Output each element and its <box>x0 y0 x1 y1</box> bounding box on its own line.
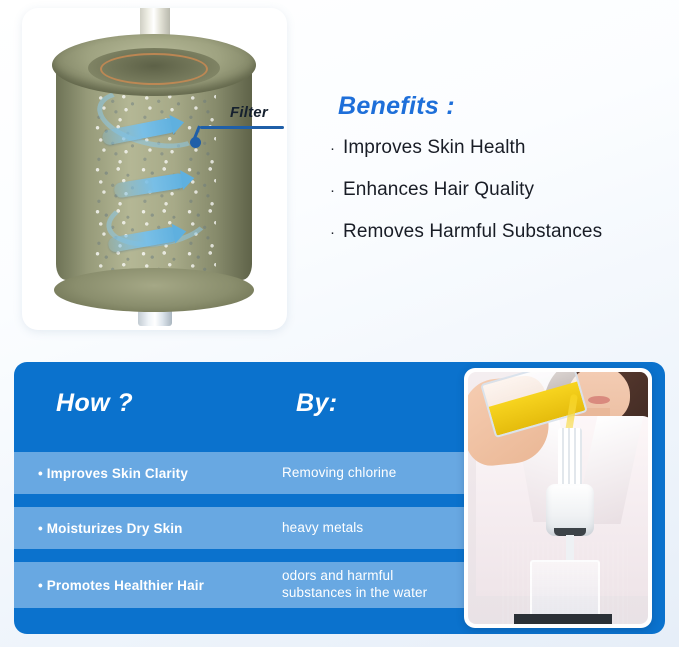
by-cell: heavy metals <box>282 520 466 537</box>
how-by-panel: How ? By: • Improves Skin Clarity Removi… <box>14 362 665 634</box>
by-column-header: By: <box>296 389 337 418</box>
bullet-icon: · <box>330 183 343 198</box>
by-cell: Removing chlorine <box>282 465 466 482</box>
filter-device-stalk <box>566 535 574 561</box>
photo-base-surface <box>514 614 612 624</box>
how-cell: • Promotes Healthier Hair <box>14 578 282 593</box>
filter-product-image-card <box>22 8 287 330</box>
benefit-label: Improves Skin Health <box>343 137 526 159</box>
filter-callout-label: Filter <box>230 104 268 121</box>
how-cell: • Moisturizes Dry Skin <box>14 521 282 536</box>
bullet-icon: · <box>330 225 343 240</box>
benefit-label: Enhances Hair Quality <box>343 179 534 201</box>
benefit-item: · Enhances Hair Quality <box>330 179 670 201</box>
how-column-header: How ? <box>56 389 133 418</box>
benefit-label: Removes Harmful Substances <box>343 221 602 243</box>
benefit-item: · Improves Skin Health <box>330 137 670 159</box>
top-section: Filter Benefits : · Improves Skin Health… <box>0 0 679 352</box>
housing-cap <box>52 34 256 96</box>
how-cell: • Improves Skin Clarity <box>14 466 282 481</box>
demo-photo-card <box>464 368 652 628</box>
copper-ring <box>100 53 208 85</box>
callout-dot <box>190 137 201 148</box>
table-row: • Improves Skin Clarity Removing chlorin… <box>14 452 466 494</box>
filter-housing <box>56 34 252 302</box>
housing-base <box>54 268 254 312</box>
table-row: • Moisturizes Dry Skin heavy metals <box>14 507 466 549</box>
demo-photo <box>468 372 648 624</box>
filter-device-stems <box>558 428 582 488</box>
benefits-title: Benefits : <box>338 92 670 121</box>
table-row: • Promotes Healthier Hair odors and harm… <box>14 562 466 608</box>
model-lips <box>588 396 610 404</box>
callout-leader-line <box>200 126 284 129</box>
by-cell: odors and harmfulsubstances in the water <box>282 568 466 602</box>
benefits-section: Benefits : · Improves Skin Health · Enha… <box>330 92 670 263</box>
bullet-icon: · <box>330 141 343 156</box>
benefit-item: · Removes Harmful Substances <box>330 221 670 243</box>
filter-callout: Filter <box>196 104 306 144</box>
